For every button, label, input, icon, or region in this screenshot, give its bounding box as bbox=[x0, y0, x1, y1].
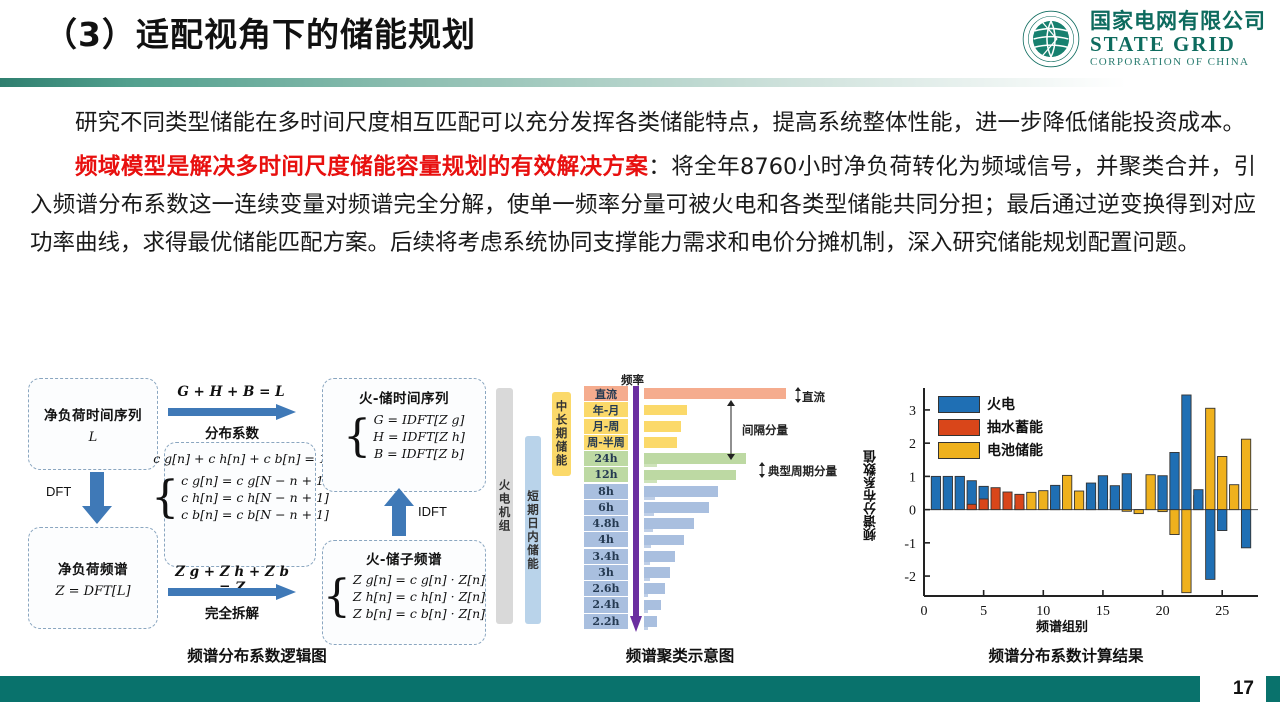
logo-english-subtitle: CORPORATION OF CHINA bbox=[1090, 57, 1266, 68]
cluster-sub-bar bbox=[644, 594, 648, 597]
chart-bar bbox=[1170, 452, 1179, 509]
cluster-bar bbox=[644, 600, 661, 611]
bar-short-term-storage: 短期日内储能 bbox=[525, 436, 541, 624]
cluster-bar bbox=[644, 551, 675, 562]
chart-ytick: 1 bbox=[909, 470, 916, 485]
footer-bar-end bbox=[1266, 676, 1280, 702]
chart-xlabel: 频谱组别 bbox=[1036, 616, 1088, 635]
cluster-label-cell: 直流 bbox=[584, 386, 628, 401]
state-grid-globe-icon bbox=[1022, 10, 1080, 68]
cluster-sub-bar bbox=[644, 578, 650, 581]
chart-xtick: 25 bbox=[1215, 604, 1229, 619]
slide-header: （3）适配视角下的储能规划 国家电网有限公司 STATE GRID CORPOR… bbox=[0, 0, 1280, 88]
chart-bar bbox=[1027, 492, 1036, 509]
legend-item: 火电 bbox=[938, 394, 1043, 414]
chart-ytick: -2 bbox=[904, 570, 916, 585]
cluster-bar bbox=[644, 518, 694, 529]
chart-ylabel: 频谱分布系数值 bbox=[862, 450, 881, 541]
box-label: 火-储时间序列 bbox=[359, 387, 449, 407]
header-divider bbox=[0, 78, 1280, 87]
cluster-sub-bar bbox=[644, 610, 648, 613]
chart-bar bbox=[1003, 492, 1012, 510]
cluster-label-cell: 24h bbox=[584, 451, 628, 466]
chart-bar bbox=[1206, 510, 1215, 580]
chart-bar bbox=[1039, 491, 1048, 510]
cluster-sub-bar bbox=[644, 464, 657, 467]
cluster-label-cell: 3.4h bbox=[584, 549, 628, 564]
coefficient-symmetry-system: { c g[n] = c g[N − n + 1] c h[n] = c h[N… bbox=[151, 472, 329, 523]
left-brace: { bbox=[323, 583, 351, 610]
chart-bar bbox=[1051, 485, 1060, 509]
figure-spectrum-clustering: 火电机组 短期日内储能 中长期储能 直流年-月月-周周-半周24h12h8h6h… bbox=[490, 372, 870, 668]
idft-line: H = IDFT[Z h] bbox=[373, 428, 465, 445]
figure-spectrum-coefficient-result: -2-101230510152025 火电抽水蓄能电池储能 频谱分布系数值 频谱… bbox=[866, 372, 1266, 668]
left-brace: { bbox=[151, 484, 179, 511]
paragraph-2-highlight: 频域模型是解决多时间尺度储能容量规划的有效解决方案 bbox=[75, 154, 648, 180]
bar-thermal-units-label: 火电机组 bbox=[497, 479, 513, 533]
box-thermal-storage-time-series: 火-储时间序列 { G = IDFT[Z g] H = IDFT[Z h] B … bbox=[322, 378, 486, 492]
state-grid-logo: 国家电网有限公司 STATE GRID CORPORATION OF CHINA bbox=[1022, 6, 1266, 72]
cluster-bar bbox=[644, 616, 657, 627]
legend-swatch bbox=[938, 419, 980, 436]
cluster-bar bbox=[644, 583, 665, 594]
figure-1-canvas: 净负荷时间序列 L DFT 净负荷频谱 Z = DFT[L] G + H + B… bbox=[22, 372, 492, 640]
interval-component-bracket-icon bbox=[726, 400, 736, 460]
chart-bar bbox=[931, 476, 940, 509]
chart-bar bbox=[1229, 485, 1238, 510]
chart-bar bbox=[1194, 490, 1203, 510]
sub-spectrum-line: Z g[n] = c g[n] · Z[n] bbox=[353, 571, 485, 588]
coefficient-line: c g[n] = c g[N − n + 1] bbox=[181, 472, 329, 489]
coefficient-line: c h[n] = c h[N − n + 1] bbox=[181, 489, 329, 506]
chart-xtick: 15 bbox=[1096, 604, 1110, 619]
figure-2-canvas: 火电机组 短期日内储能 中长期储能 直流年-月月-周周-半周24h12h8h6h… bbox=[490, 372, 870, 640]
chart-bar bbox=[1134, 510, 1143, 514]
chart-bar bbox=[1241, 439, 1250, 509]
chart-bar bbox=[1182, 395, 1191, 510]
box-equation: Z = DFT[L] bbox=[55, 584, 130, 599]
dft-arrow-label: DFT bbox=[46, 484, 71, 499]
typical-period-component-annotation: 典型周期分量 bbox=[768, 463, 837, 479]
decompose-arrow bbox=[168, 584, 296, 600]
cluster-label-cell: 2.2h bbox=[584, 614, 628, 629]
chart-bar bbox=[955, 476, 964, 509]
legend-swatch bbox=[938, 442, 980, 459]
chart-bar bbox=[1158, 476, 1167, 510]
chart-bar bbox=[1182, 510, 1191, 593]
coefficient-sum-equation: c g[n] + c h[n] + c b[n] = 1 bbox=[153, 450, 327, 467]
cluster-label-cell: 月-周 bbox=[584, 419, 628, 434]
idft-system: { G = IDFT[Z g] H = IDFT[Z h] B = IDFT[Z… bbox=[343, 411, 465, 462]
box-label: 火-储子频谱 bbox=[366, 548, 442, 568]
chart-bar bbox=[979, 499, 988, 510]
dc-bracket-icon bbox=[794, 387, 802, 403]
figure-2-caption: 频谱聚类示意图 bbox=[490, 644, 870, 666]
legend-label: 抽水蓄能 bbox=[987, 417, 1043, 437]
cluster-bar bbox=[644, 486, 718, 497]
cluster-bar bbox=[644, 567, 670, 578]
cluster-bar bbox=[644, 502, 709, 513]
page-number: 17 bbox=[1233, 678, 1254, 700]
cluster-label-cell: 年-月 bbox=[584, 402, 628, 417]
dc-annotation: 直流 bbox=[802, 389, 825, 405]
sum-arrow-label-above: G + H + B = L bbox=[168, 384, 294, 400]
slide-body: 研究不同类型储能在多时间尺度相互匹配可以充分发挥各类储能特点，提高系统整体性能，… bbox=[30, 104, 1256, 262]
legend-label: 火电 bbox=[987, 394, 1015, 414]
chart-bar bbox=[1098, 476, 1107, 510]
clustering-rows: 直流年-月月-周周-半周24h12h8h6h4.8h4h3.4h3h2.6h2.… bbox=[584, 386, 844, 630]
box-net-load-spectrum: 净负荷频谱 Z = DFT[L] bbox=[28, 527, 158, 629]
chart-bar bbox=[1086, 483, 1095, 510]
sub-spectrum-system: { Z g[n] = c g[n] · Z[n] Z h[n] = c h[n]… bbox=[323, 571, 485, 622]
chart-bar bbox=[1218, 456, 1227, 509]
figure-3-caption: 频谱分布系数计算结果 bbox=[866, 644, 1266, 666]
legend-swatch bbox=[938, 396, 980, 413]
cluster-label-cell: 4.8h bbox=[584, 516, 628, 531]
cluster-sub-bar bbox=[644, 562, 650, 565]
frequency-label: 频率 bbox=[621, 372, 644, 388]
legend-item: 抽水蓄能 bbox=[938, 417, 1043, 437]
chart-bar bbox=[943, 476, 952, 509]
chart-legend: 火电抽水蓄能电池储能 bbox=[938, 394, 1043, 463]
cluster-label-cell: 8h bbox=[584, 484, 628, 499]
chart-bar bbox=[991, 488, 1000, 510]
figure-spectrum-coefficient-logic: 净负荷时间序列 L DFT 净负荷频谱 Z = DFT[L] G + H + B… bbox=[22, 372, 492, 668]
cluster-sub-bar bbox=[644, 627, 648, 630]
cluster-sub-bar bbox=[644, 529, 653, 532]
figure-1-caption: 频谱分布系数逻辑图 bbox=[22, 644, 492, 666]
idft-line: B = IDFT[Z b] bbox=[373, 445, 465, 462]
cluster-label-cell: 4h bbox=[584, 532, 628, 547]
sum-arrow bbox=[168, 404, 296, 420]
logo-english-name: STATE GRID bbox=[1090, 34, 1266, 55]
cluster-label-cell: 周-半周 bbox=[584, 435, 628, 450]
frequency-axis-arrow bbox=[630, 386, 642, 632]
chart-bar bbox=[1110, 486, 1119, 510]
paragraph-1: 研究不同类型储能在多时间尺度相互匹配可以充分发挥各类储能特点，提高系统整体性能，… bbox=[30, 104, 1256, 142]
cluster-sub-bar bbox=[644, 513, 654, 516]
box-distribution-coefficient: c g[n] + c h[n] + c b[n] = 1 { c g[n] = … bbox=[164, 442, 316, 567]
bar-thermal-units: 火电机组 bbox=[496, 388, 513, 624]
paragraph-2: 频域模型是解决多时间尺度储能容量规划的有效解决方案：将全年8760小时净负荷转化… bbox=[30, 148, 1256, 262]
cluster-label-cell: 12h bbox=[584, 467, 628, 482]
box-label: 净负荷频谱 bbox=[58, 558, 128, 578]
chart-bar bbox=[1122, 474, 1131, 510]
chart-ytick: 0 bbox=[909, 504, 916, 519]
decompose-arrow-label-below: 完全拆解 bbox=[168, 602, 296, 622]
cluster-bar bbox=[644, 437, 677, 448]
idft-arrow bbox=[384, 488, 414, 536]
chart-ytick: 3 bbox=[909, 404, 916, 419]
idft-arrow-label: IDFT bbox=[418, 504, 447, 519]
cluster-label-cell: 2.6h bbox=[584, 581, 628, 596]
chart-bar bbox=[1206, 408, 1215, 509]
sub-spectrum-line: Z h[n] = c h[n] · Z[n] bbox=[353, 588, 485, 605]
box-label: 净负荷时间序列 bbox=[44, 404, 142, 424]
chart-bar bbox=[1170, 510, 1179, 535]
box-thermal-storage-sub-spectrum: 火-储子频谱 { Z g[n] = c g[n] · Z[n] Z h[n] =… bbox=[322, 540, 486, 645]
chart-xtick: 5 bbox=[980, 604, 987, 619]
chart-bar bbox=[967, 504, 976, 509]
cluster-bar bbox=[644, 421, 681, 432]
distribution-coefficient-title: 分布系数 bbox=[168, 422, 296, 442]
chart-xtick: 0 bbox=[921, 604, 928, 619]
cluster-bar bbox=[644, 405, 687, 416]
chart-ytick: -1 bbox=[904, 537, 916, 552]
box-equation: L bbox=[89, 430, 98, 445]
dft-arrow bbox=[82, 472, 112, 524]
cluster-label-cell: 6h bbox=[584, 500, 628, 515]
cluster-bar bbox=[644, 388, 786, 399]
bar-medium-long-term-storage: 中长期储能 bbox=[552, 392, 571, 476]
chart-bar bbox=[1241, 510, 1250, 548]
cluster-bar bbox=[644, 535, 684, 546]
logo-chinese-name: 国家电网有限公司 bbox=[1090, 11, 1266, 32]
chart-xtick: 20 bbox=[1156, 604, 1170, 619]
bar-short-term-storage-label: 短期日内储能 bbox=[525, 490, 541, 571]
cluster-sub-bar bbox=[644, 480, 657, 483]
box-net-load-time-series: 净负荷时间序列 L bbox=[28, 378, 158, 470]
cluster-bar bbox=[644, 470, 736, 481]
interval-component-annotation: 间隔分量 bbox=[742, 422, 788, 438]
chart-bar bbox=[1146, 475, 1155, 510]
cluster-sub-bar bbox=[644, 545, 651, 548]
chart-bar bbox=[1062, 475, 1071, 509]
legend-label: 电池储能 bbox=[987, 440, 1043, 460]
spectrum-coefficient-chart: -2-101230510152025 bbox=[866, 372, 1266, 640]
typical-period-bracket-icon bbox=[758, 462, 766, 478]
cluster-label-cell: 2.4h bbox=[584, 597, 628, 612]
chart-ytick: 2 bbox=[909, 437, 916, 452]
chart-bar bbox=[1218, 510, 1227, 531]
idft-line: G = IDFT[Z g] bbox=[373, 411, 465, 428]
cluster-sub-bar bbox=[644, 497, 655, 500]
legend-item: 电池储能 bbox=[938, 440, 1043, 460]
sub-spectrum-line: Z b[n] = c b[n] · Z[n] bbox=[353, 605, 485, 622]
figures-row: 净负荷时间序列 L DFT 净负荷频谱 Z = DFT[L] G + H + B… bbox=[0, 372, 1280, 668]
bar-medium-long-term-storage-label: 中长期储能 bbox=[554, 400, 570, 468]
chart-bar bbox=[1074, 491, 1083, 510]
figure-3-canvas: -2-101230510152025 火电抽水蓄能电池储能 频谱分布系数值 频谱… bbox=[866, 372, 1266, 640]
cluster-label-cell: 3h bbox=[584, 565, 628, 580]
coefficient-line: c b[n] = c b[N − n + 1] bbox=[181, 506, 329, 523]
page-title: （3）适配视角下的储能规划 bbox=[44, 8, 476, 56]
chart-bar bbox=[1015, 494, 1024, 509]
footer-bar bbox=[0, 676, 1200, 702]
left-brace: { bbox=[343, 423, 371, 450]
